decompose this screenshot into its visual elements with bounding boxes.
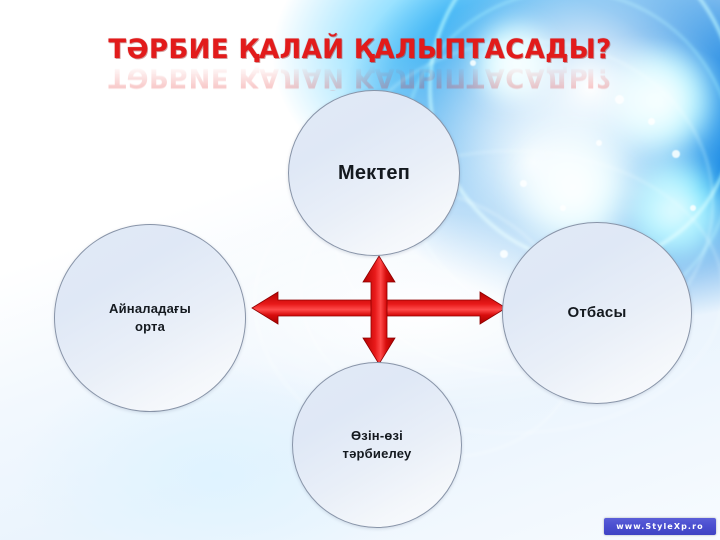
- diagram-node-family[interactable]: Отбасы: [502, 222, 692, 404]
- background-speck: [672, 150, 680, 158]
- background-speck: [470, 60, 476, 66]
- background-glow-blob: [470, 18, 560, 108]
- background-speck: [648, 118, 655, 125]
- background-speck: [520, 180, 527, 187]
- background-speck: [500, 250, 508, 258]
- label-line-2: тәрбиелеу: [343, 446, 412, 461]
- watermark-text: www.StyleXp.ro: [616, 522, 703, 531]
- background-speck: [596, 140, 602, 146]
- label-line-1: Өзін-өзі: [351, 428, 403, 443]
- diagram-node-environment-label: Айналадағы орта: [99, 300, 201, 335]
- label-line-2: орта: [135, 319, 165, 334]
- diagram-node-self-education[interactable]: Өзін-өзі тәрбиелеу: [292, 362, 462, 528]
- watermark-badge: www.StyleXp.ro: [604, 518, 716, 535]
- label-line-1: Айналадағы: [109, 301, 191, 316]
- background-speck: [560, 205, 566, 211]
- background-speck: [615, 95, 624, 104]
- diagram-node-self-education-label: Өзін-өзі тәрбиелеу: [333, 427, 422, 462]
- diagram-node-school-label: Мектеп: [328, 160, 420, 187]
- presentation-slide: ТӘРБИЕ ҚАЛАЙ ҚАЛЫПТАСАДЫ? ТӘРБИЕ ҚАЛАЙ Қ…: [0, 0, 720, 540]
- diagram-node-environment[interactable]: Айналадағы орта: [54, 224, 246, 412]
- background-speck: [690, 205, 696, 211]
- diagram-node-school[interactable]: Мектеп: [288, 90, 460, 256]
- diagram-node-family-label: Отбасы: [558, 303, 637, 323]
